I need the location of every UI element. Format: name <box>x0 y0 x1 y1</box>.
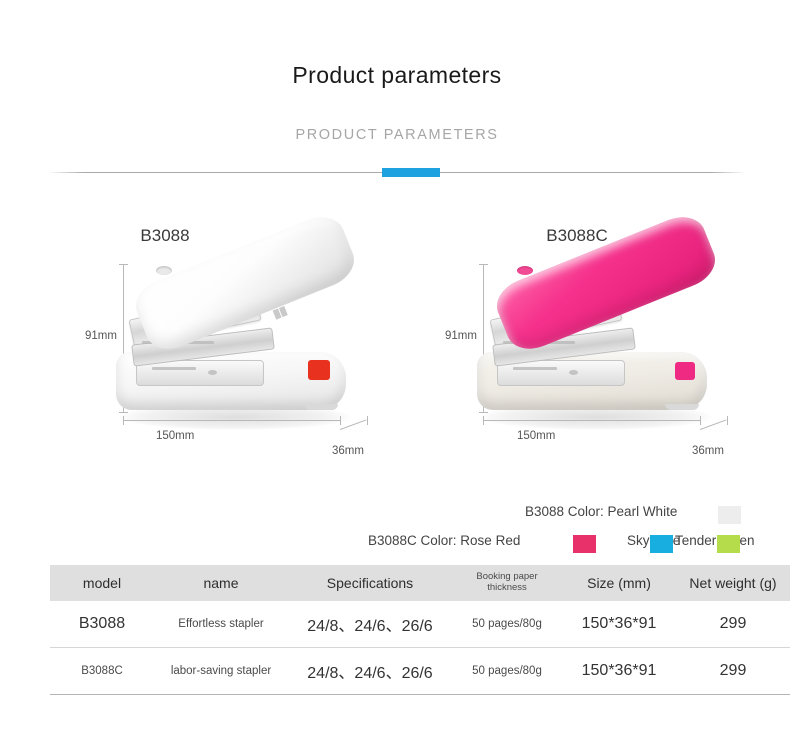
table-header-model: model <box>50 565 154 601</box>
stapler-illustration-b3088c <box>469 252 729 427</box>
specifications-table-header: model name Specifications Booking paper … <box>50 565 790 601</box>
cell-size: 150*36*91 <box>562 601 676 648</box>
table-header-name: name <box>154 565 288 601</box>
color-swatch-rose-red <box>573 535 596 553</box>
dimension-tick-depth-left <box>367 416 368 425</box>
dimension-tick-length-end-left <box>340 416 341 425</box>
cell-thickness: 50 pages/80g <box>452 648 562 695</box>
stapler-release-button <box>308 360 330 380</box>
stapler-illustration-b3088: ██ <box>108 252 368 427</box>
page-subtitle: PRODUCT PARAMETERS <box>0 127 794 143</box>
color-swatch-sky-blue <box>650 535 673 553</box>
table-header-thickness: Booking paper thickness <box>452 565 562 601</box>
stapler-base-foot <box>304 404 338 410</box>
table-header-thickness-line2: thickness <box>487 582 527 593</box>
table-row: B3088 Effortless stapler 24/8、24/6、26/6 … <box>50 601 790 648</box>
cell-thickness: 50 pages/80g <box>452 601 562 648</box>
table-header-thickness-line1: Booking paper <box>476 571 537 582</box>
color-legend-pearl-white: B3088 Color: Pearl White <box>525 504 677 519</box>
table-row: B3088C labor-saving stapler 24/8、24/6、26… <box>50 648 790 695</box>
color-legend-pearl-white-label: B3088 Color: Pearl White <box>525 504 677 519</box>
cell-specifications: 24/8、24/6、26/6 <box>288 648 452 695</box>
stapler-anvil-detail-1 <box>513 367 557 370</box>
color-swatch-pearl-white <box>718 506 741 524</box>
dimension-line-length-right <box>483 420 700 421</box>
table-header-row: model name Specifications Booking paper … <box>50 565 790 601</box>
cell-model: B3088 <box>50 601 154 648</box>
cell-model: B3088C <box>50 648 154 695</box>
specifications-table: model name Specifications Booking paper … <box>50 565 790 695</box>
dimension-tick-length-start-right <box>483 416 484 425</box>
cell-size: 150*36*91 <box>562 648 676 695</box>
stapler-anvil-detail-2 <box>569 370 578 375</box>
product-figure-b3088c: B3088C 91mm 150mm 36mm <box>437 212 767 472</box>
dimension-line-length-left <box>123 420 340 421</box>
dimension-label-length-right: 150mm <box>517 430 555 442</box>
cell-weight: 299 <box>676 601 790 648</box>
stapler-release-button <box>675 362 695 380</box>
stapler-base-foot <box>665 404 699 410</box>
table-header-size: Size (mm) <box>562 565 676 601</box>
header-accent-bar <box>382 168 440 177</box>
page-title: Product parameters <box>0 62 794 89</box>
specifications-table-body: B3088 Effortless stapler 24/8、24/6、26/6 … <box>50 601 790 695</box>
dimension-tick-depth-right <box>727 416 728 425</box>
table-header-specifications: Specifications <box>288 565 452 601</box>
color-legend-tender-green-label: Tender green <box>675 533 755 548</box>
stapler-anvil-detail-2 <box>208 370 217 375</box>
color-legend-rose-red: B3088C Color: Rose Red <box>368 533 520 548</box>
cell-name: labor-saving stapler <box>154 648 288 695</box>
product-figure-b3088: B3088 91mm ██ 150mm 36mm <box>60 212 390 472</box>
table-header-weight: Net weight (g) <box>676 565 790 601</box>
cell-specifications: 24/8、24/6、26/6 <box>288 601 452 648</box>
dimension-label-length-left: 150mm <box>156 430 194 442</box>
cell-weight: 299 <box>676 648 790 695</box>
dimension-label-depth-left: 36mm <box>332 445 364 457</box>
dimension-tick-length-start-left <box>123 416 124 425</box>
stapler-anvil-detail-1 <box>152 367 196 370</box>
stapler-handle-hole <box>156 266 172 275</box>
stapler-handle-hole <box>517 266 533 275</box>
color-legend-rose-red-label: B3088C Color: Rose Red <box>368 533 520 548</box>
color-swatch-tender-green <box>717 535 740 553</box>
cell-name: Effortless stapler <box>154 601 288 648</box>
color-legend-tender-green: Tender green <box>675 533 755 548</box>
dimension-tick-length-end-right <box>700 416 701 425</box>
dimension-label-depth-right: 36mm <box>692 445 724 457</box>
